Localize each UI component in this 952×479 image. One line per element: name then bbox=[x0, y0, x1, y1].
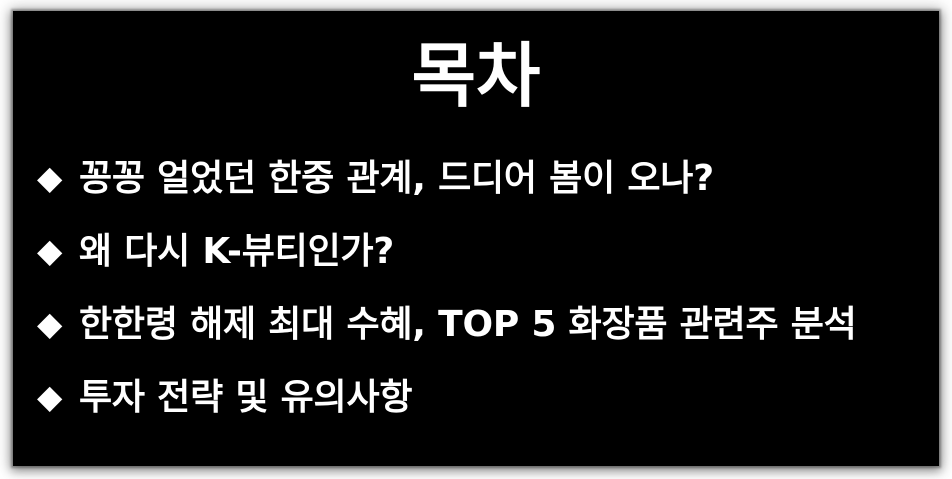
list-item-label: 왜 다시 K-뷰티인가? bbox=[79, 233, 927, 271]
page-title: 목차 bbox=[13, 37, 939, 115]
list-item-label: 한한령 해제 최대 수혜, TOP 5 화장품 관련주 분석 bbox=[79, 306, 927, 344]
slide-panel: 목차 ◆ 꽁꽁 얼었던 한중 관계, 드디어 봄이 오나? ◆ 왜 다시 K-뷰… bbox=[13, 11, 939, 466]
diamond-bullet-icon: ◆ bbox=[37, 380, 77, 413]
list-item-label: 꽁꽁 얼었던 한중 관계, 드디어 봄이 오나? bbox=[79, 160, 927, 198]
list-item[interactable]: ◆ 꽁꽁 얼었던 한중 관계, 드디어 봄이 오나? bbox=[37, 142, 927, 215]
list-item[interactable]: ◆ 투자 전략 및 유의사항 bbox=[37, 361, 927, 434]
diamond-bullet-icon: ◆ bbox=[37, 234, 77, 267]
slide-frame: 목차 ◆ 꽁꽁 얼었던 한중 관계, 드디어 봄이 오나? ◆ 왜 다시 K-뷰… bbox=[0, 0, 952, 479]
list-item-label: 투자 전략 및 유의사항 bbox=[79, 379, 927, 417]
list-item[interactable]: ◆ 한한령 해제 최대 수혜, TOP 5 화장품 관련주 분석 bbox=[37, 288, 927, 361]
diamond-bullet-icon: ◆ bbox=[37, 307, 77, 340]
list-item[interactable]: ◆ 왜 다시 K-뷰티인가? bbox=[37, 215, 927, 288]
diamond-bullet-icon: ◆ bbox=[37, 161, 77, 194]
table-of-contents-list: ◆ 꽁꽁 얼었던 한중 관계, 드디어 봄이 오나? ◆ 왜 다시 K-뷰티인가… bbox=[37, 142, 927, 434]
